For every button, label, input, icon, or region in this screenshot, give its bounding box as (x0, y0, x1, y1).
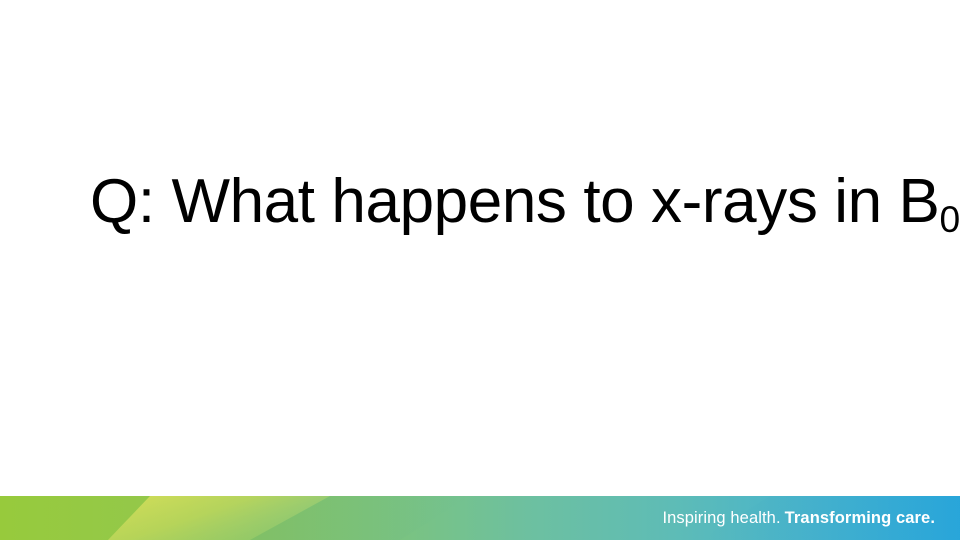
tagline-bold: Transforming care (785, 496, 931, 540)
title-placeholder: Q: What happens to x-rays in B0? (90, 168, 890, 238)
title-subscript: 0 (940, 198, 960, 240)
tagline-regular: Inspiring health. (662, 496, 780, 540)
footer-banner: Inspiring health. Transforming care . (0, 496, 960, 540)
tagline-period: . (930, 496, 935, 540)
title-text-main: Q: What happens to x-rays in B (90, 167, 940, 236)
slide-canvas: Q: What happens to x-rays in B0? (0, 0, 960, 540)
page-title: Q: What happens to x-rays in B0? (90, 168, 890, 243)
footer-tagline: Inspiring health. Transforming care . (662, 496, 935, 540)
